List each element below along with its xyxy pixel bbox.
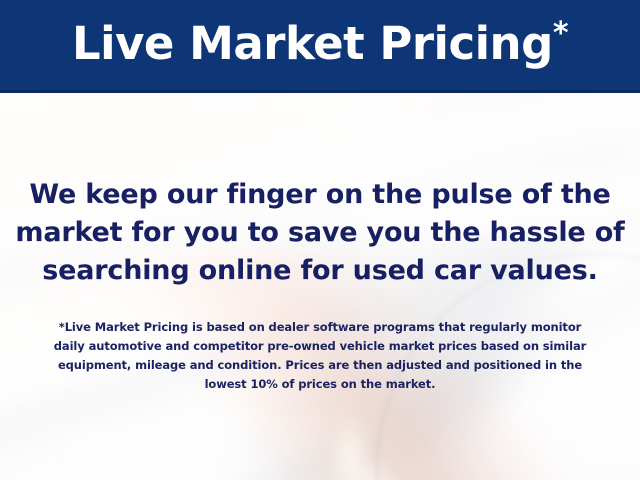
footnote-line-3: equipment, mileage and condition. Prices…	[0, 356, 640, 375]
page-title-asterisk: *	[553, 16, 568, 51]
live-market-pricing-banner: Live Market Pricing* We keep our finger …	[0, 0, 640, 480]
page-title-text: Live Market Pricing	[72, 17, 553, 70]
headline-line-3: searching online for used car values.	[0, 252, 640, 290]
footnote-line-1: *Live Market Pricing is based on dealer …	[0, 318, 640, 337]
page-title: Live Market Pricing*	[72, 21, 568, 70]
headline-block: We keep our finger on the pulse of the m…	[0, 176, 640, 290]
footnote-line-2: daily automotive and competitor pre-owne…	[0, 337, 640, 356]
footnote-line-4: lowest 10% of prices on the market.	[0, 375, 640, 394]
headline-line-2: market for you to save you the hassle of	[0, 214, 640, 252]
header-banner: Live Market Pricing*	[0, 0, 640, 93]
headline-line-1: We keep our finger on the pulse of the	[0, 176, 640, 214]
footnote-block: *Live Market Pricing is based on dealer …	[0, 318, 640, 394]
